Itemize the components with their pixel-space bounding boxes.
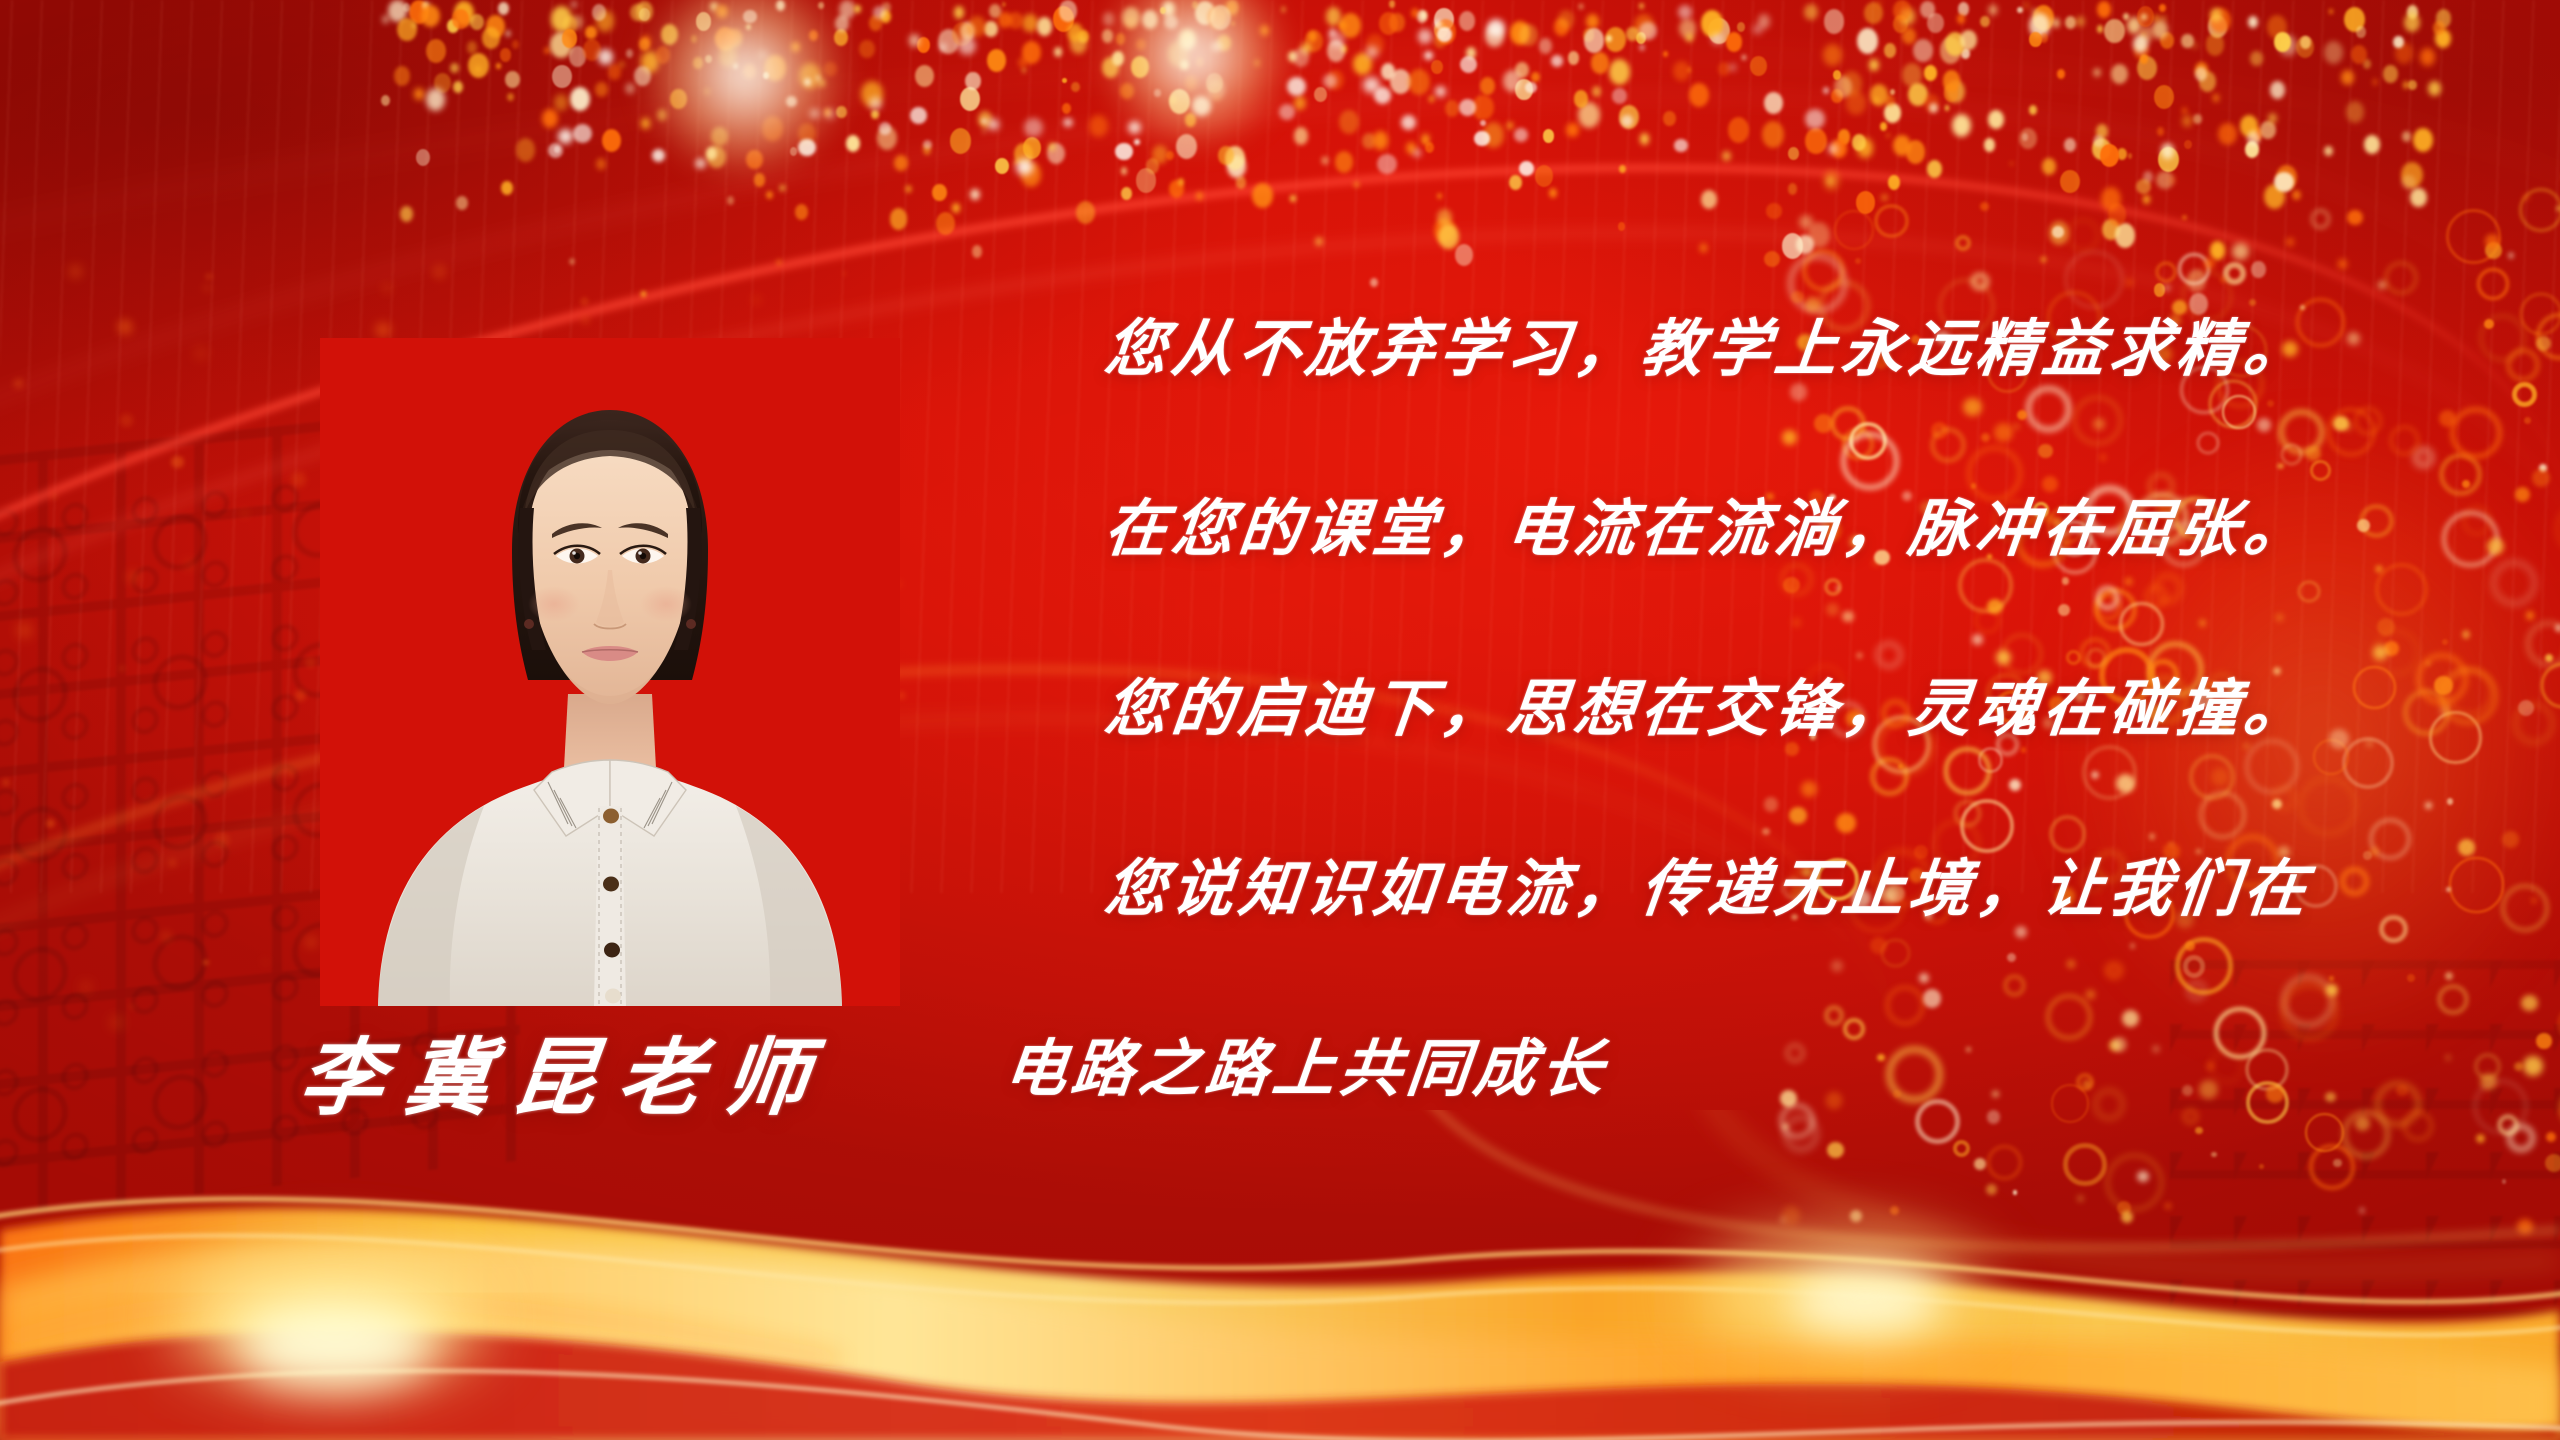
earring-right [686,619,696,629]
portrait-illustration [320,338,900,1006]
blush-left [528,586,580,622]
blush-right [640,586,692,622]
tribute-text-block: 您从不放弃学习，教学上永远精益求精。 在您的课堂，电流在流淌，脉冲在屈张。 您的… [1105,318,2525,1038]
button-2 [603,877,619,892]
earring-left [524,619,534,629]
teacher-name-label: 李冀昆老师 [295,1036,835,1120]
golden-ribbon-waves [0,1110,2560,1440]
tribute-poster: 您从不放弃学习，教学上永远精益求精。 在您的课堂，电流在流淌，脉冲在屈张。 您的… [0,0,2560,1440]
teacher-portrait-photo [320,338,900,1006]
wave-ribbon-diagonal [1420,1110,2560,1248]
button-4 [605,989,621,1004]
eye-highlight-right [638,551,642,555]
tribute-line-2: 在您的课堂，电流在流淌，脉冲在屈张。 [1102,498,2529,560]
tribute-line-5: 电路之路上共同成长 [1002,1038,1612,1100]
button-3 [604,943,620,958]
tribute-line-1: 您从不放弃学习，教学上永远精益求精。 [1102,318,2529,380]
tribute-line-3: 您的启迪下，思想在交锋，灵魂在碰撞。 [1102,678,2529,740]
eye-highlight-left [572,551,576,555]
waves-svg [0,1110,2560,1440]
button-1 [603,809,619,824]
tribute-line-4: 您说知识如电流，传递无止境，让我们在 [1102,858,2529,920]
